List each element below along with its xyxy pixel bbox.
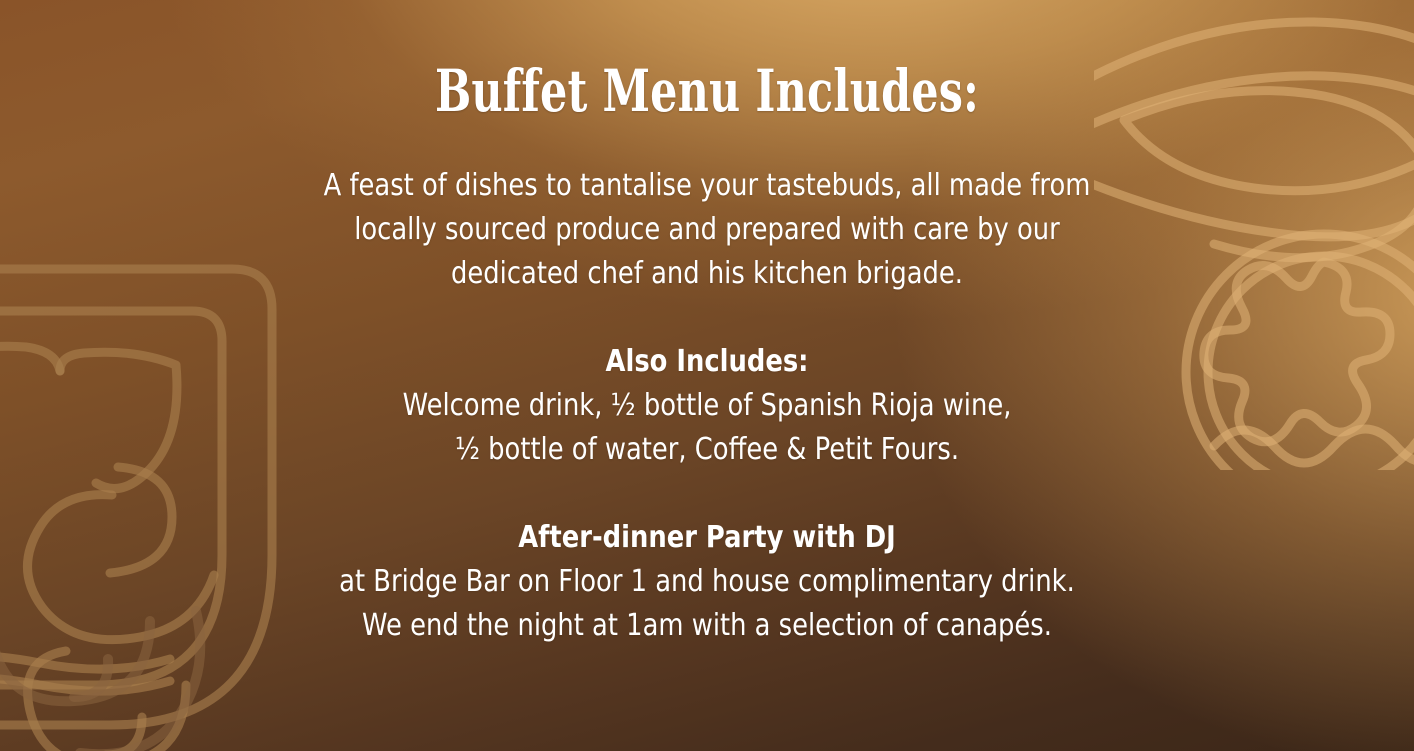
after-party-paragraph: After-dinner Party with DJ at Bridge Bar… [99,516,1315,648]
intro-line-3: dedicated chef and his kitchen brigade. [99,252,1315,296]
page-title: Buffet Menu Includes: [184,0,1230,120]
poster-content: Buffet Menu Includes: A feast of dishes … [0,0,1414,751]
also-includes-line-1: Welcome drink, ½ bottle of Spanish Rioja… [99,384,1315,428]
intro-line-1: A feast of dishes to tantalise your tast… [99,164,1315,208]
intro-line-2: locally sourced produce and prepared wit… [99,208,1315,252]
also-includes-line-2: ½ bottle of water, Coffee & Petit Fours. [99,428,1315,472]
also-includes-paragraph: Also Includes: Welcome drink, ½ bottle o… [99,340,1315,472]
after-party-line-1: at Bridge Bar on Floor 1 and house compl… [99,560,1315,604]
after-party-line-2: We end the night at 1am with a selection… [99,604,1315,648]
also-includes-heading: Also Includes: [99,340,1315,384]
after-party-heading: After-dinner Party with DJ [99,516,1315,560]
intro-paragraph: A feast of dishes to tantalise your tast… [99,164,1315,296]
buffet-menu-poster: Buffet Menu Includes: A feast of dishes … [0,0,1414,751]
